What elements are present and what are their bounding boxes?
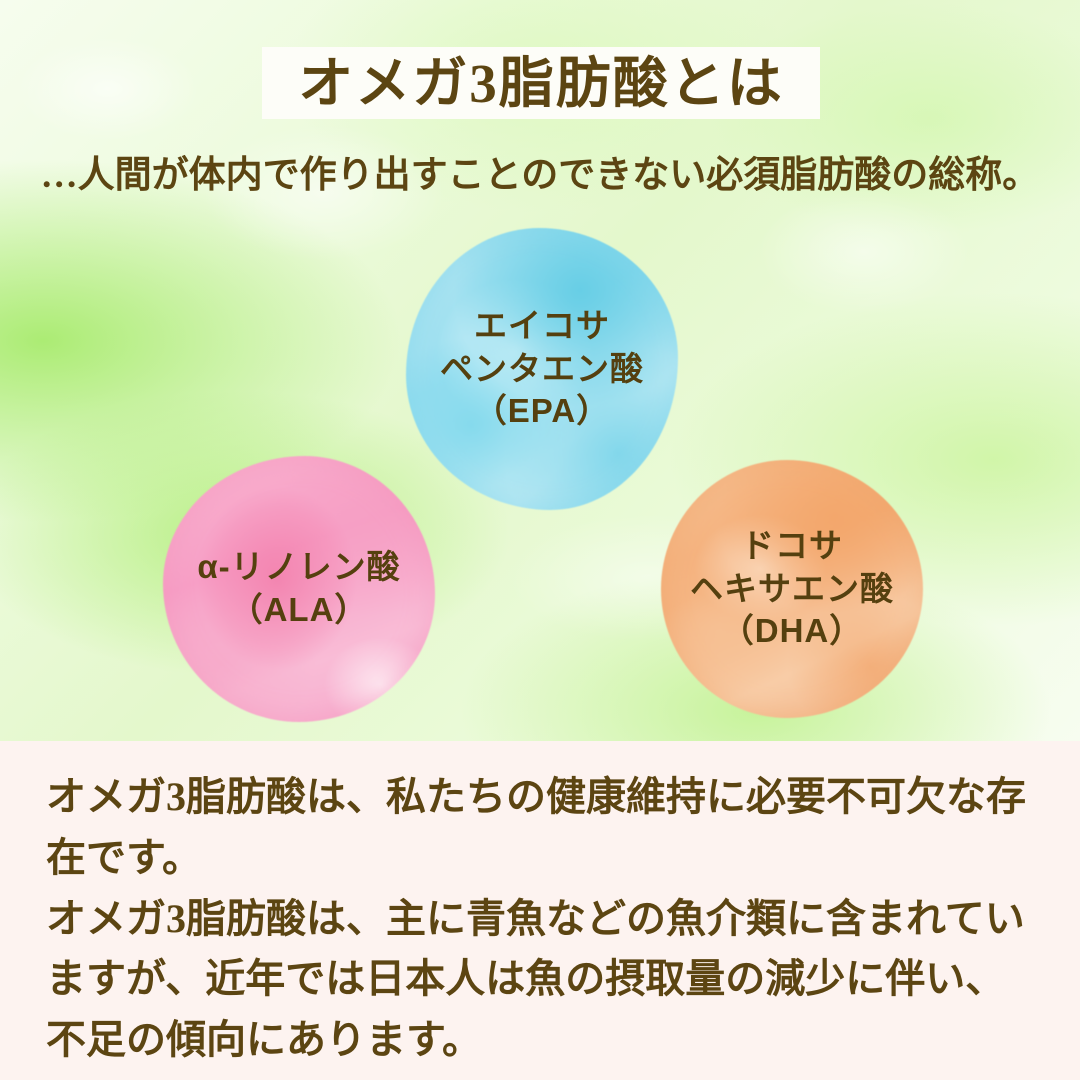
body-paragraph: オメガ3脂肪酸は、私たちの健康維持に必要不可欠な存在です。 オメガ3脂肪酸は、主… bbox=[46, 767, 1038, 1071]
blob-dha: ドコサ ヘキサエン酸 （DHA） bbox=[661, 460, 923, 718]
blob-ala: α-リノレン酸 （ALA） bbox=[163, 456, 435, 722]
blob-epa-label: エイコサ ペンタエン酸 （EPA） bbox=[440, 305, 644, 434]
title-band: オメガ3脂肪酸とは bbox=[262, 47, 820, 119]
subtitle-text: …人間が体内で作り出すことのできない必須脂肪酸の総称。 bbox=[0, 154, 1080, 198]
blob-dha-label: ドコサ ヘキサエン酸 （DHA） bbox=[690, 525, 894, 654]
page-title: オメガ3脂肪酸とは bbox=[298, 56, 784, 111]
blob-epa: エイコサ ペンタエン酸 （EPA） bbox=[406, 228, 678, 510]
omega3-infographic: オメガ3脂肪酸とは …人間が体内で作り出すことのできない必須脂肪酸の総称。 エイ… bbox=[0, 0, 1080, 1080]
bottom-description-panel: オメガ3脂肪酸は、私たちの健康維持に必要不可欠な存在です。 オメガ3脂肪酸は、主… bbox=[0, 741, 1080, 1080]
blob-ala-label: α-リノレン酸 （ALA） bbox=[197, 546, 400, 632]
